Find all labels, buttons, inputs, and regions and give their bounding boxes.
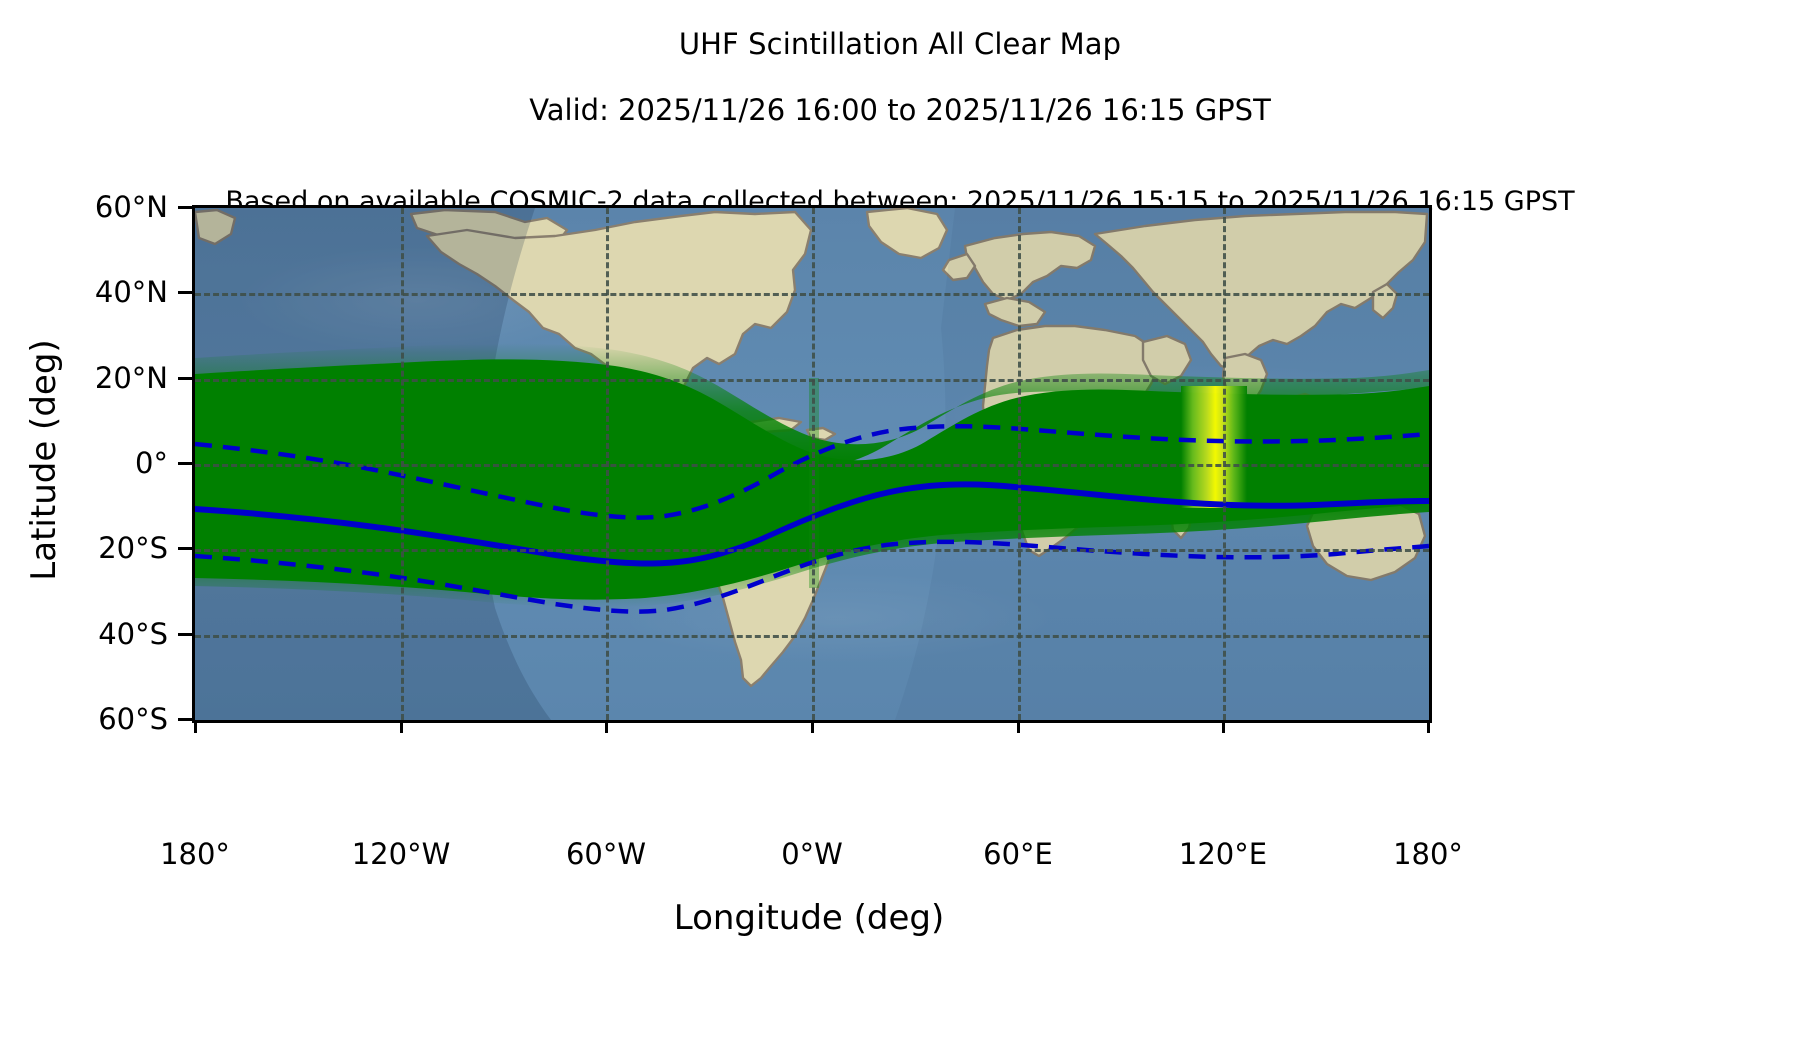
x-ticklabel-60e: 60°E [908, 840, 1128, 869]
band-column-artifact [809, 378, 819, 588]
possibly-clear-stripe [1181, 386, 1247, 508]
y-ticklabel-60s: 60°S [0, 705, 168, 734]
y-ticklabel-20n: 20°N [0, 364, 168, 393]
y-ticklabel-40s: 40°S [0, 620, 168, 649]
y-tick-60s [178, 718, 192, 721]
y-ticklabel-40n: 40°N [0, 278, 168, 307]
validity-subtitle: Valid: 2025/11/26 16:00 to 2025/11/26 16… [0, 93, 1800, 127]
x-tick-0 [811, 720, 814, 733]
y-tick-20n [178, 377, 192, 380]
y-ticklabel-60n: 60°N [0, 193, 168, 222]
x-tick-120e [1222, 720, 1225, 733]
title-block: UHF Scintillation All Clear Map Valid: 2… [0, 0, 1800, 127]
x-axis-label: Longitude (deg) [190, 898, 1428, 938]
y-ticklabel-20s: 20°S [0, 534, 168, 563]
y-tick-40s [178, 633, 192, 636]
y-tick-40n [178, 291, 192, 294]
x-tick-60e [1017, 720, 1020, 733]
scintillation-bands-layer [195, 208, 1429, 720]
x-ticklabel-120e: 120°E [1113, 840, 1333, 869]
x-ticklabel-60w: 60°W [496, 840, 716, 869]
page-title: UHF Scintillation All Clear Map [0, 27, 1800, 61]
x-ticklabel-180e: 180° [1318, 840, 1538, 869]
y-tick-0 [178, 462, 192, 465]
y-tick-20s [178, 547, 192, 550]
x-tick-180w [194, 720, 197, 733]
x-tick-60w [605, 720, 608, 733]
map-plot-area[interactable]: Probably Clear > 95% Probability Clear P… [192, 205, 1432, 723]
map-canvas: Probably Clear > 95% Probability Clear P… [195, 208, 1429, 720]
x-tick-180e [1427, 720, 1430, 733]
x-tick-120w [400, 720, 403, 733]
x-ticklabel-120w: 120°W [291, 840, 511, 869]
x-ticklabel-180w: 180° [85, 840, 305, 869]
y-ticklabel-0: 0° [0, 449, 168, 478]
y-tick-60n [178, 206, 192, 209]
x-ticklabel-0: 0°W [702, 840, 922, 869]
